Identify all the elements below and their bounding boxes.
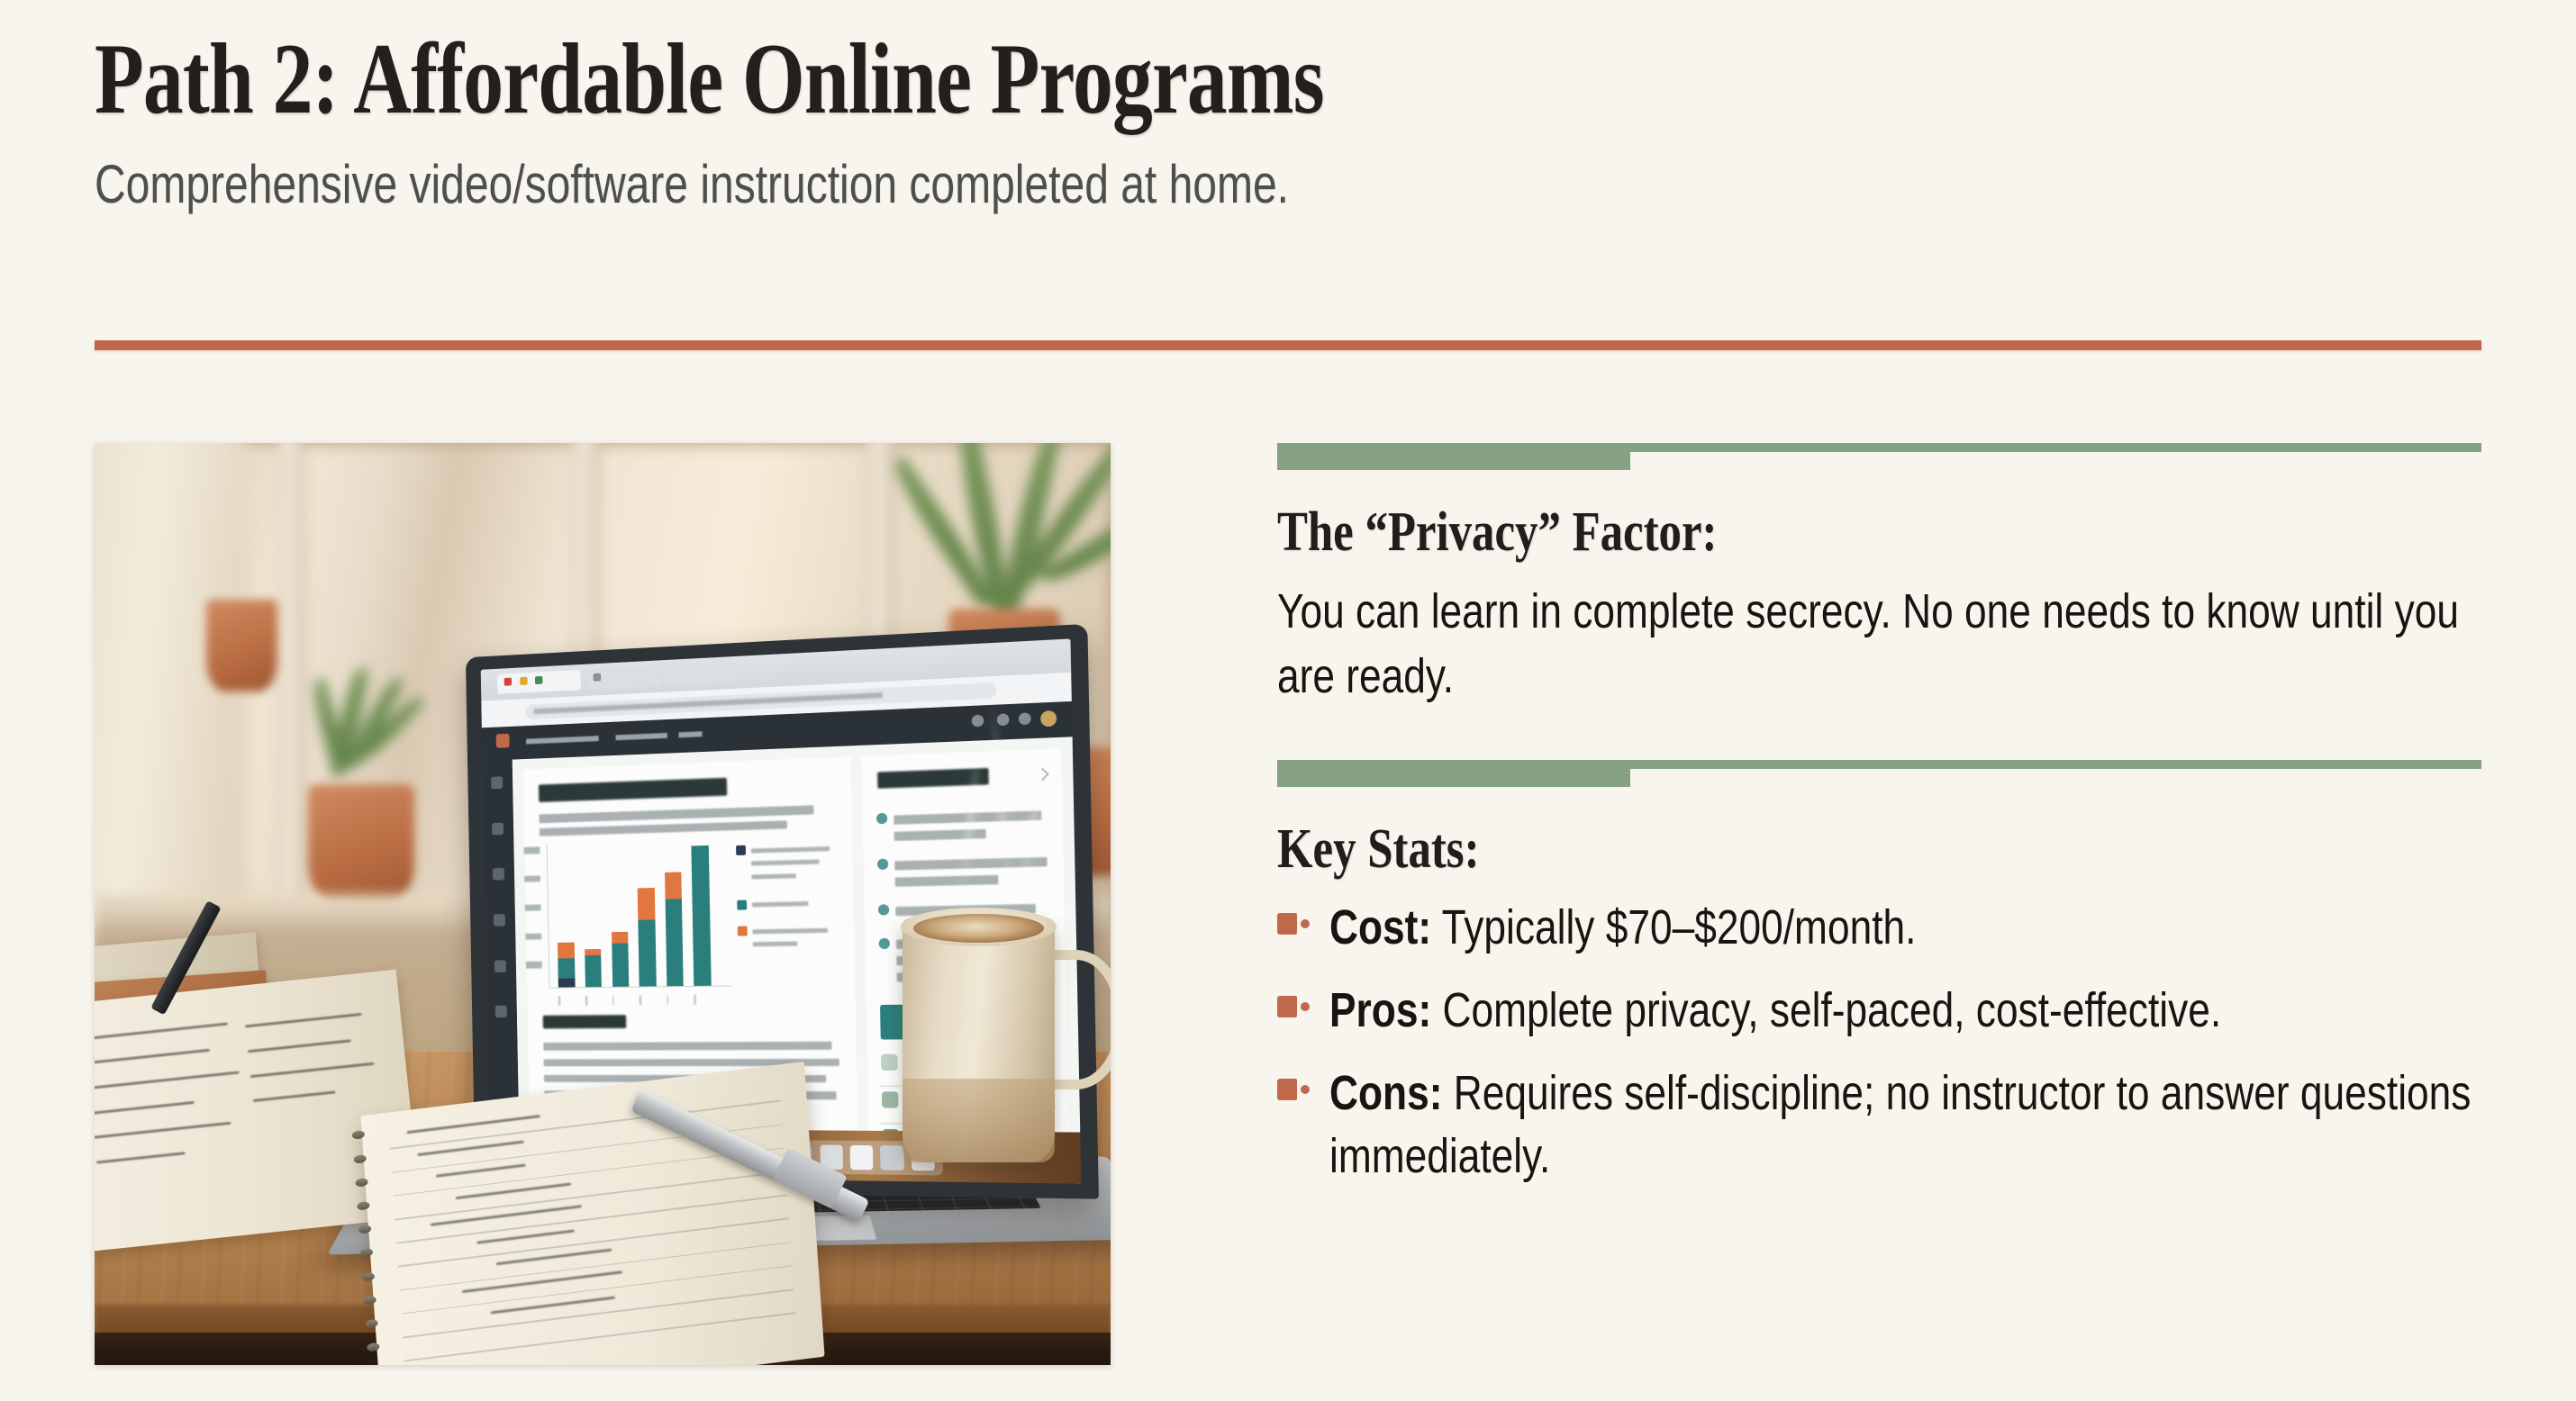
bar-2 [583,843,602,987]
list-bullet [879,905,890,916]
tab-favicon-green [535,676,543,684]
rail-icon-users[interactable] [494,914,505,926]
stat-value: Typically $70–$200/month. [1442,900,1917,954]
paragraph-line [540,820,788,836]
spiral-notepad [360,1062,825,1365]
avatar[interactable] [1041,710,1057,727]
stat-value: Complete privacy, self-paced, cost-effec… [1443,983,2222,1037]
rail-icon-chart[interactable] [493,822,504,835]
legend-label-3b [753,942,798,947]
tab-favicon-red [504,677,512,685]
section-bar-thick [1277,443,1630,470]
section-bar-thick [1277,760,1630,787]
list-item: Pros: Complete privacy, self-paced, cost… [1277,979,2484,1042]
bar-1 [557,844,576,988]
stat-text: Pros: Complete privacy, self-paced, cost… [1329,979,2497,1042]
stat-text: Cons: Requires self-discipline; no instr… [1329,1062,2497,1188]
stat-label: Pros: [1329,983,1431,1037]
privacy-section-bar [1277,443,2484,484]
key-stats-heading: Key Stats: [1277,818,2267,881]
y-tick [524,847,540,854]
app-settings-icon[interactable] [1019,713,1031,726]
x-tick [586,996,588,1006]
status-chip-2 [883,1091,900,1107]
header-accent-rule [95,340,2481,350]
bar-chart [547,839,731,989]
page-title: Path 2: Affordable Online Programs [95,25,2004,134]
x-tick [640,995,642,1005]
rail-icon-list[interactable] [494,868,505,881]
page-subtitle: Comprehensive video/software instruction… [95,154,2004,214]
browser-tab-3[interactable] [667,662,737,686]
legend-label-3 [753,928,829,934]
app-breadcrumb-2[interactable] [616,733,667,740]
stat-label: Cost: [1329,900,1431,954]
app-bell-icon[interactable] [972,715,984,728]
app-logo-icon [496,734,510,748]
privacy-body: You can learn in complete secrecy. No on… [1277,579,2459,710]
legend-swatch-2 [738,900,748,910]
y-tick [527,962,543,968]
mug-glaze-band [903,1079,1055,1161]
plant-leaves-left [298,664,440,803]
bullet-marker-icon [1277,1079,1297,1100]
legend-swatch-1 [736,845,746,855]
legend-swatch-3 [738,926,748,936]
x-tick [559,996,561,1006]
stat-label: Cons: [1329,1066,1442,1120]
right-column: The “Privacy” Factor: You can learn in c… [1277,443,2484,1207]
rail-icon-gear[interactable] [495,1006,507,1018]
slide-header: Path 2: Affordable Online Programs Compr… [95,25,2481,214]
list-item: Cons: Requires self-discipline; no instr… [1277,1062,2484,1188]
y-tick [526,933,542,939]
terracotta-pot-left [308,784,414,904]
list-item: Cost: Typically $70–$200/month. [1277,896,2484,959]
dashboard-title [540,778,728,802]
tab-favicon-grey [594,673,602,681]
stat-text: Cost: Typically $70–$200/month. [1329,896,2497,959]
list-bullet [877,813,888,825]
legend-label-1b [751,860,819,866]
dock-icon-terminal[interactable] [850,1145,874,1171]
list-bullet [879,938,890,949]
app-breadcrumb-3[interactable] [679,732,703,738]
x-tick [667,995,669,1005]
key-stats-section-bar [1277,760,2484,801]
key-stats-list: Cost: Typically $70–$200/month. Pros: Co… [1277,896,2484,1189]
app-breadcrumb-1[interactable] [527,737,600,745]
list-bullet [878,859,889,870]
dock-icon-settings[interactable] [881,1145,904,1171]
slide-root: Path 2: Affordable Online Programs Compr… [0,0,2576,1401]
paragraph-line [544,1042,832,1051]
rail-icon-folder[interactable] [494,960,506,972]
bar-4 [637,841,657,986]
tab-favicon-yellow [520,677,528,685]
app-help-icon[interactable] [997,714,1010,727]
status-chip-1 [882,1054,899,1071]
x-tick [612,995,614,1005]
privacy-heading: The “Privacy” Factor: [1277,501,2267,565]
y-tick [525,876,541,883]
legend-label-1 [751,846,830,853]
legend-label-1c [752,873,797,879]
stat-value: Requires self-discipline; no instructor … [1329,1066,2471,1183]
coffee-mug [903,917,1055,1161]
secondary-heading [543,1015,626,1029]
bar-5 [665,840,685,986]
y-tick [526,905,542,912]
terracotta-pot-small [206,600,277,691]
legend-label-2 [752,901,809,907]
bar-3 [610,842,629,987]
curtain [95,443,247,959]
bullet-marker-icon [1277,913,1297,935]
list-line [896,875,1000,887]
list-line [895,829,986,841]
rail-icon-home[interactable] [492,776,503,789]
coffee-surface [913,914,1043,943]
desk-photo [95,443,1111,1365]
bar-6 [692,839,712,986]
x-tick [694,995,696,1005]
bullet-marker-icon [1277,996,1297,1017]
